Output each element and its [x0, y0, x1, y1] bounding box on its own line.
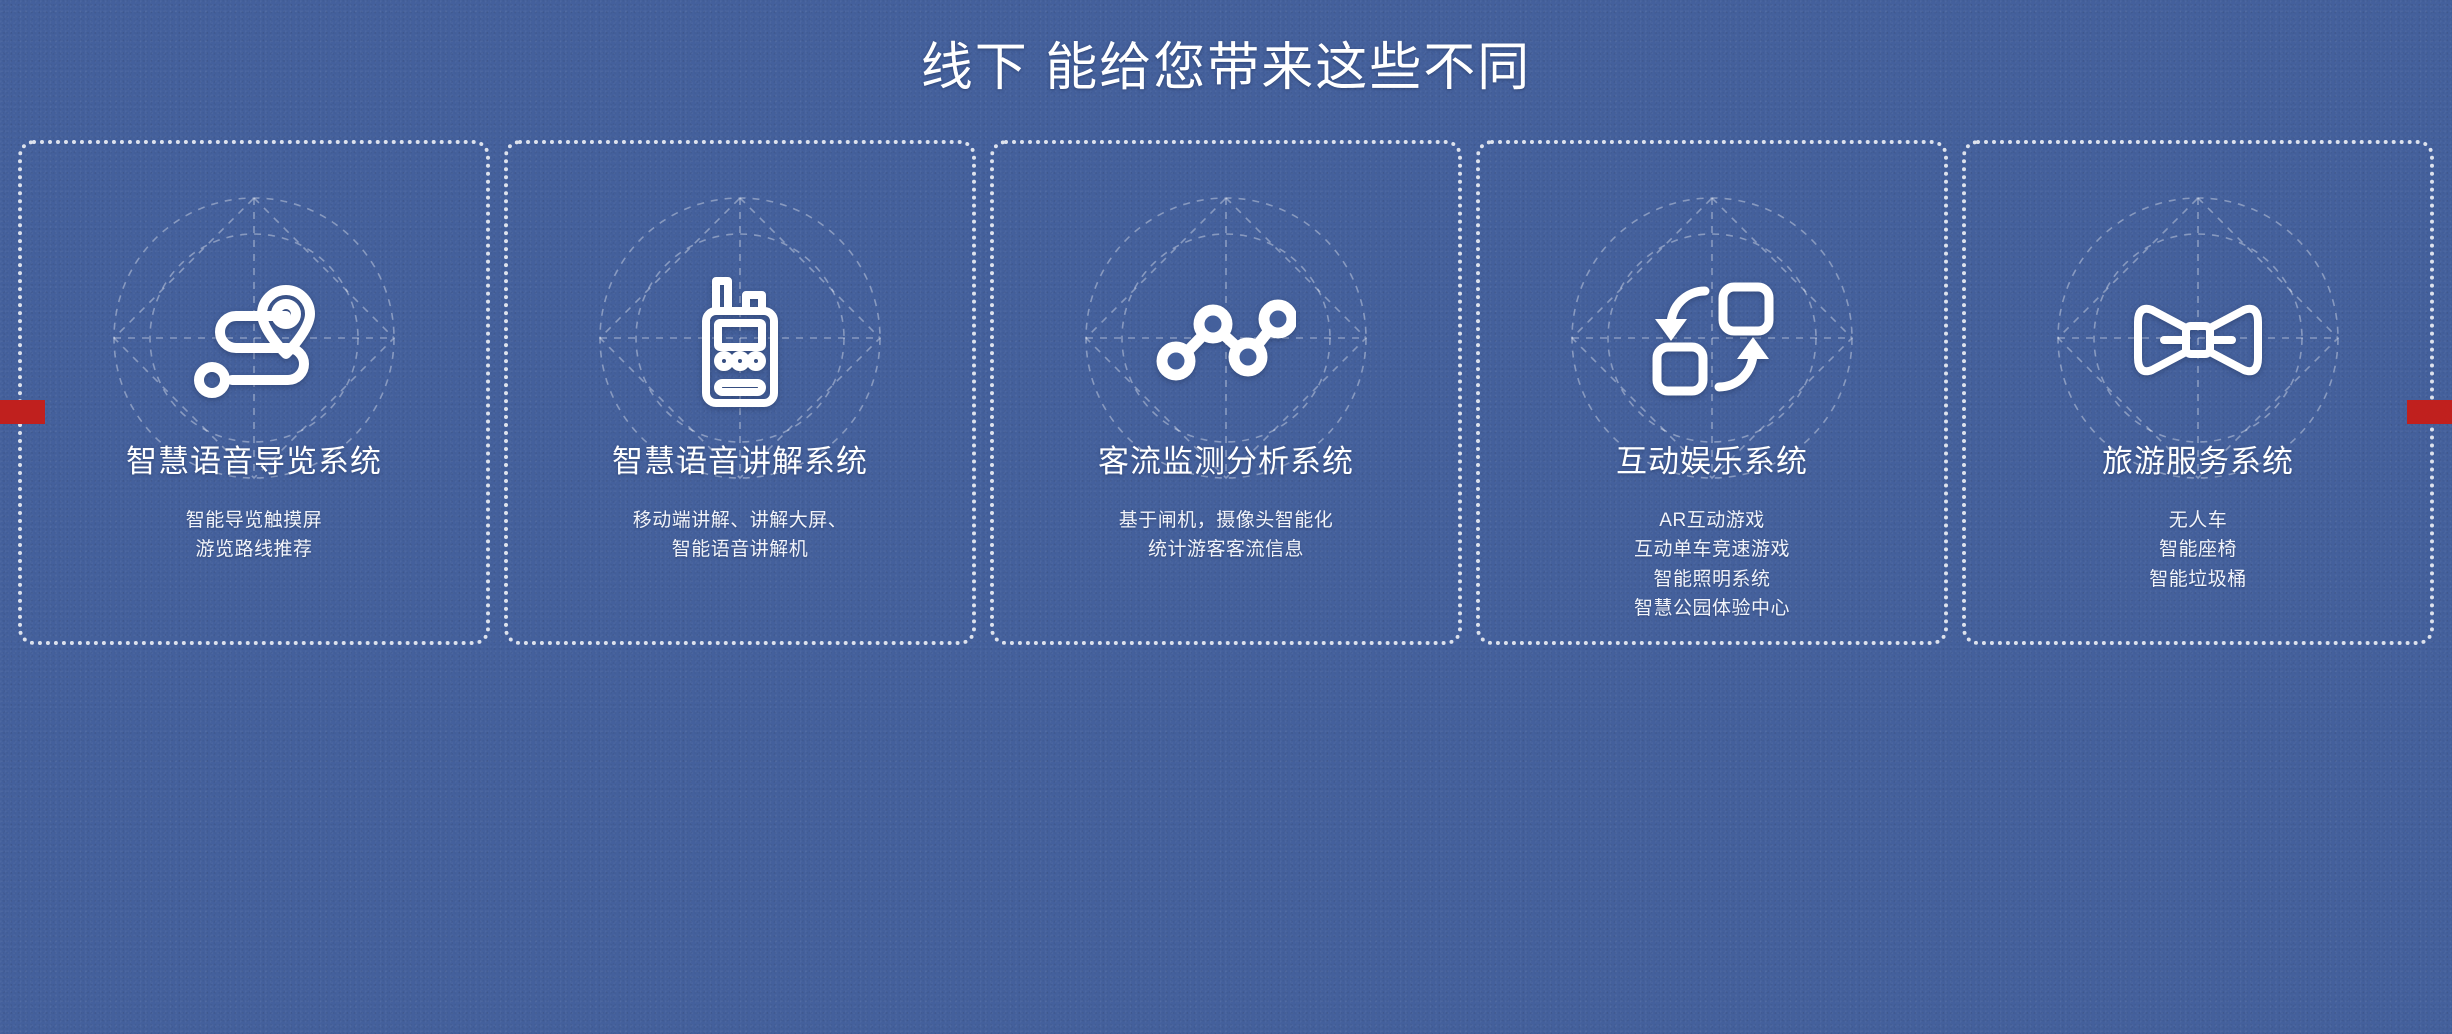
- feature-card-lines: 智能导览触摸屏游览路线推荐: [36, 506, 472, 565]
- feature-card-title: 互动娱乐系统: [1494, 444, 1930, 480]
- walkie-talkie-icon: [660, 260, 820, 420]
- feature-card-line: 智能导览触摸屏: [36, 506, 472, 535]
- right-red-accent: [2407, 400, 2452, 424]
- feature-card[interactable]: 旅游服务系统无人车智能座椅智能垃圾桶: [1962, 140, 2434, 645]
- feature-card-title: 智慧语音导览系统: [36, 444, 472, 480]
- feature-card-body: 旅游服务系统无人车智能座椅智能垃圾桶: [1966, 444, 2430, 594]
- feature-card-line: 智能座椅: [1980, 535, 2416, 564]
- feature-card-title: 旅游服务系统: [1980, 444, 2416, 480]
- feature-card-lines: AR互动游戏互动单车竞速游戏智能照明系统智慧公园体验中心: [1494, 506, 1930, 624]
- feature-card[interactable]: 智慧语音导览系统智能导览触摸屏游览路线推荐: [18, 140, 490, 645]
- feature-card-line: 移动端讲解、讲解大屏、: [522, 506, 958, 535]
- feature-card-line: 智能语音讲解机: [522, 535, 958, 564]
- feature-card[interactable]: 智慧语音讲解系统移动端讲解、讲解大屏、智能语音讲解机: [504, 140, 976, 645]
- feature-card-body: 互动娱乐系统AR互动游戏互动单车竞速游戏智能照明系统智慧公园体验中心: [1480, 444, 1944, 623]
- bow-tie-icon: [2118, 260, 2278, 420]
- feature-card-line: 无人车: [1980, 506, 2416, 535]
- feature-card-line: 统计游客客流信息: [1008, 535, 1444, 564]
- feature-card-lines: 基于闸机，摄像头智能化统计游客客流信息: [1008, 506, 1444, 565]
- feature-card-line: 游览路线推荐: [36, 535, 472, 564]
- feature-card-line: 智能垃圾桶: [1980, 565, 2416, 594]
- node-line-chart-icon: [1146, 260, 1306, 420]
- feature-card-line: 互动单车竞速游戏: [1494, 535, 1930, 564]
- feature-card-lines: 移动端讲解、讲解大屏、智能语音讲解机: [522, 506, 958, 565]
- feature-cards-row: 智慧语音导览系统智能导览触摸屏游览路线推荐智慧语音讲解系统移动端讲解、讲解大屏、…: [18, 140, 2434, 652]
- feature-card-body: 智慧语音导览系统智能导览触摸屏游览路线推荐: [22, 444, 486, 565]
- feature-card-body: 客流监测分析系统基于闸机，摄像头智能化统计游客客流信息: [994, 444, 1458, 565]
- feature-card-body: 智慧语音讲解系统移动端讲解、讲解大屏、智能语音讲解机: [508, 444, 972, 565]
- route-location-pin-icon: [174, 260, 334, 420]
- feature-card-title: 客流监测分析系统: [1008, 444, 1444, 480]
- feature-card[interactable]: 互动娱乐系统AR互动游戏互动单车竞速游戏智能照明系统智慧公园体验中心: [1476, 140, 1948, 645]
- feature-card-title: 智慧语音讲解系统: [522, 444, 958, 480]
- exchange-interaction-icon: [1632, 260, 1792, 420]
- feature-card-line: AR互动游戏: [1494, 506, 1930, 535]
- offline-benefits-section: 线下 能给您带来这些不同 智慧语音导览系统智能导览触摸屏游览路线推荐智慧语音讲解…: [0, 0, 2452, 1034]
- feature-card-line: 智慧公园体验中心: [1494, 594, 1930, 623]
- feature-card-lines: 无人车智能座椅智能垃圾桶: [1980, 506, 2416, 594]
- feature-card-line: 智能照明系统: [1494, 565, 1930, 594]
- feature-card[interactable]: 客流监测分析系统基于闸机，摄像头智能化统计游客客流信息: [990, 140, 1462, 645]
- feature-card-line: 基于闸机，摄像头智能化: [1008, 506, 1444, 535]
- page-title: 线下 能给您带来这些不同: [0, 0, 2452, 94]
- left-red-accent: [0, 400, 45, 424]
